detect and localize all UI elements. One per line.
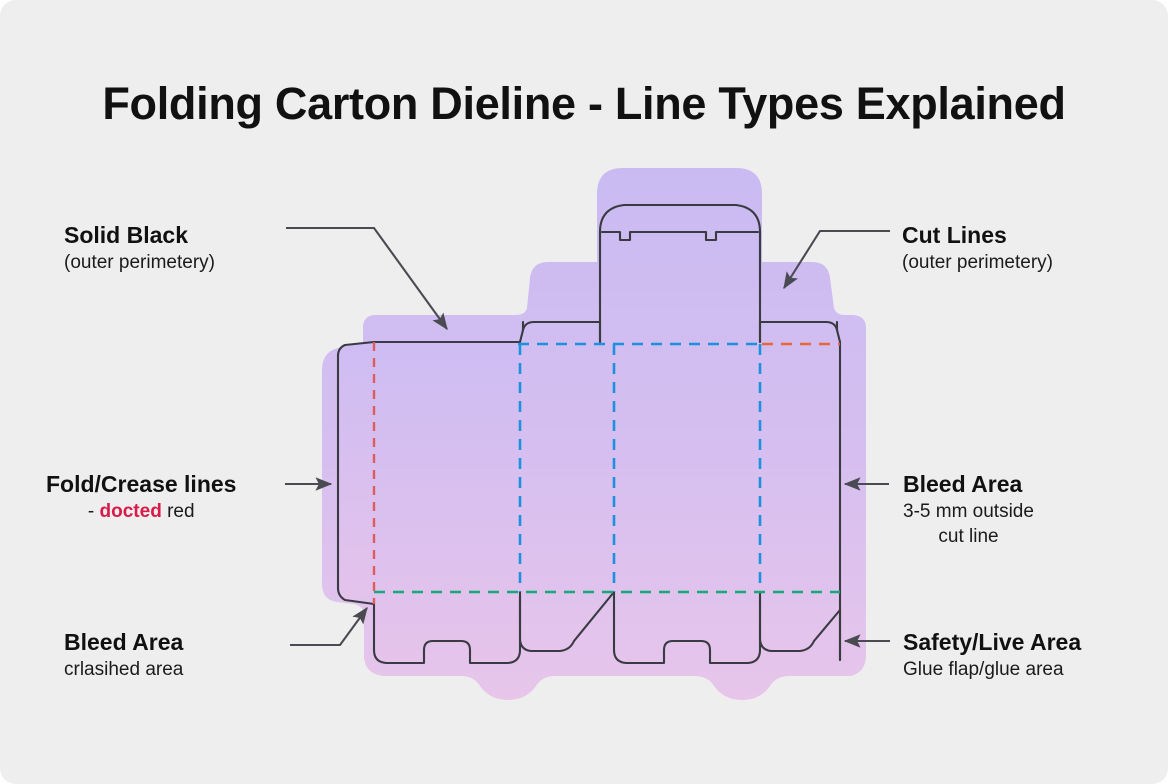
- label-bleed-area-left: Bleed Area crlasihed area: [64, 628, 183, 682]
- leader-solid-black: [286, 228, 447, 329]
- leader-bleed-left: [290, 608, 367, 645]
- label-bleed-right-title: Bleed Area: [903, 470, 1034, 499]
- label-bleed-left-title: Bleed Area: [64, 628, 183, 657]
- label-solid-black-subtitle: (outer perimetery): [64, 250, 215, 276]
- label-safety-live-area: Safety/Live Area Glue flap/glue area: [903, 628, 1081, 682]
- label-bleed-right-sub1: 3-5 mm outside: [903, 499, 1034, 525]
- label-cut-lines-subtitle: (outer perimetery): [902, 250, 1053, 276]
- label-bleed-left-subtitle: crlasihed area: [64, 657, 183, 683]
- label-solid-black: Solid Black (outer perimetery): [64, 221, 215, 275]
- fold-crease-prefix: -: [88, 501, 100, 522]
- label-safety-live-title: Safety/Live Area: [903, 628, 1081, 657]
- label-cut-lines: Cut Lines (outer perimetery): [902, 221, 1053, 275]
- label-fold-crease: Fold/Crease lines - docted red: [46, 470, 236, 524]
- label-fold-crease-subtitle: - docted red: [46, 499, 236, 525]
- fold-crease-suffix: red: [162, 501, 195, 522]
- label-cut-lines-title: Cut Lines: [902, 221, 1053, 250]
- fold-crease-accent: docted: [100, 501, 162, 522]
- label-solid-black-title: Solid Black: [64, 221, 215, 250]
- label-safety-live-subtitle: Glue flap/glue area: [903, 657, 1081, 683]
- label-bleed-right-sub2: cut line: [903, 524, 1034, 550]
- label-fold-crease-title: Fold/Crease lines: [46, 470, 236, 499]
- label-bleed-area-right: Bleed Area 3-5 mm outside cut line: [903, 470, 1034, 550]
